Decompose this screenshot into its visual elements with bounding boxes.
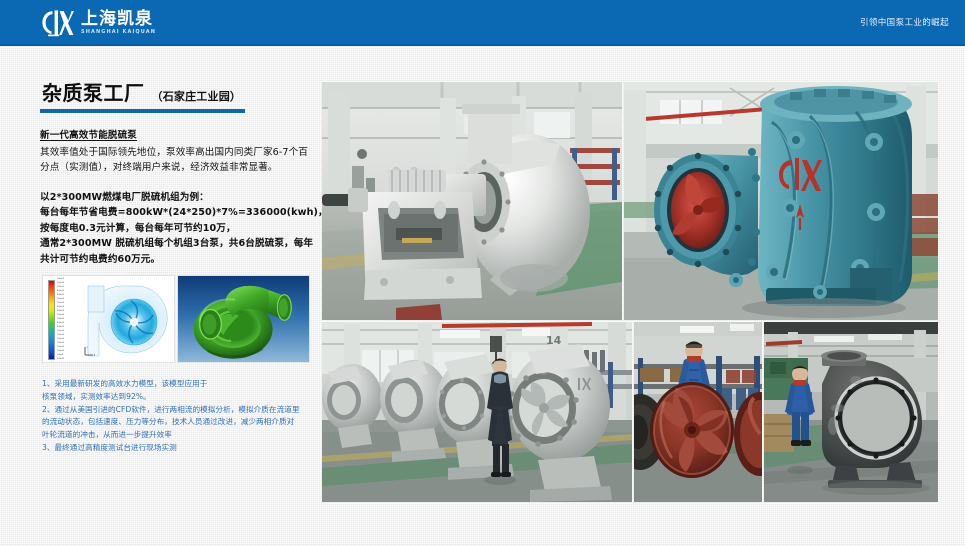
colorbar-tick: 8.50e+00 <box>57 291 79 293</box>
svg-text:Y: Y <box>86 346 88 349</box>
header-slogan: 引领中国泵工业的崛起 <box>860 0 949 44</box>
note-line: 叶轮流道的冲击，从而进一步提升效率 <box>42 429 322 442</box>
colorbar-tick: 4.50e+00 <box>57 323 79 325</box>
colorbar-tick: 7.50e+00 <box>57 299 79 301</box>
colorbar-tick: 9.00e+00 <box>57 287 79 289</box>
colorbar-tick: 9.50e+00 <box>57 283 79 285</box>
brand-name-en: SHANGHAI KAIQUAN <box>81 30 156 35</box>
volute-3d-cad-model <box>177 275 310 363</box>
cfd-velocity-contour: 1.00e+01 9.50e+00 9.00e+00 8.50e+00 8.00… <box>42 275 175 363</box>
photo-white-pump-assembly[interactable] <box>322 82 622 320</box>
example-line: 按每度电0.3元计算，每台每年可节约10万， <box>40 221 312 237</box>
bay-number-label: 14 <box>546 334 562 347</box>
colorbar-tick: 3.50e+00 <box>57 331 79 333</box>
photo-grid: 14 <box>322 82 938 502</box>
colorbar-tick: 5.50e+00 <box>57 315 79 317</box>
colorbar-tick: 0.00e+00 <box>57 359 79 361</box>
colorbar-tick: 2.50e+00 <box>57 339 79 341</box>
technical-notes-list: 1、采用最新研发的高效水力模型，该模型应用于 核泵领域，实测效率达到92%。 2… <box>42 378 322 455</box>
note-line: 2、通过从美国引进的CFD软件，进行两相流的模拟分析，模拟介质在流道里 <box>42 404 322 417</box>
title-underline-rule <box>40 109 245 113</box>
svg-text:X: X <box>94 354 96 357</box>
colorbar-tick: 7.00e+00 <box>57 303 79 305</box>
header-underline <box>0 44 965 46</box>
photo-pump-row-with-worker[interactable]: 14 <box>322 322 632 502</box>
slide-canvas: 上海凯泉 SHANGHAI KAIQUAN 引领中国泵工业的崛起 杂质泵工厂 （… <box>0 0 965 546</box>
example-line: 以2*300MW燃煤电厂脱硫机组为例： <box>40 190 312 206</box>
note-line: 核泵领域，实测效率达到92%。 <box>42 391 322 404</box>
colorbar-tick: 1.00e+01 <box>57 279 79 281</box>
example-line: 通常2*300MW 脱硫机组每个机组3台泵，共6台脱硫泵，每年 <box>40 236 312 252</box>
left-content-column: 杂质泵工厂 （石家庄工业园） 新一代高效节能脱硫泵 其效率值处于国际领先地位，泵… <box>40 82 312 502</box>
figure-row: 1.00e+01 9.50e+00 9.00e+00 8.50e+00 8.00… <box>42 275 310 363</box>
example-line: 共计可节约电费约60万元。 <box>40 252 312 268</box>
photo-blue-desulfurization-pump[interactable] <box>624 82 938 320</box>
colorbar-tick: 2.00e+00 <box>57 343 79 345</box>
note-line: 3、最终通过高精度测试台进行现场实测 <box>42 442 322 455</box>
page-subtitle: （石家庄工业园） <box>152 88 242 104</box>
cfd-colorbar-ticks: 1.00e+01 9.50e+00 9.00e+00 8.50e+00 8.00… <box>57 279 79 361</box>
colorbar-tick: 4.00e+00 <box>57 327 79 329</box>
section-paragraph: 其效率值处于国际领先地位，泵效率高出国内同类厂家6-7个百分点（实测值），对终端… <box>40 146 312 176</box>
section-heading: 新一代高效节能脱硫泵 <box>40 127 312 141</box>
savings-example-block: 以2*300MW燃煤电厂脱硫机组为例： 每台每年节省电费=800kW*(24*2… <box>40 190 312 268</box>
page-title: 杂质泵工厂 <box>42 82 145 104</box>
colorbar-tick: 3.00e+00 <box>57 335 79 337</box>
colorbar-tick: 5.00e-01 <box>57 355 79 357</box>
photo-large-casing-with-worker[interactable] <box>764 322 938 502</box>
note-line: 1、采用最新研发的高效水力模型，该模型应用于 <box>42 378 322 391</box>
colorbar-tick: 1.00e+00 <box>57 351 79 353</box>
brand-logo[interactable]: 上海凯泉 SHANGHAI KAIQUAN <box>40 7 156 39</box>
example-line: 每台每年节省电费=800kW*(24*250)*7%=336000(kwh)， <box>40 205 312 221</box>
colorbar-tick: 8.00e+00 <box>57 295 79 297</box>
colorbar-tick: 5.00e+00 <box>57 319 79 321</box>
colorbar-tick: 6.50e+00 <box>57 307 79 309</box>
header-bar: 上海凯泉 SHANGHAI KAIQUAN 引领中国泵工业的崛起 <box>0 0 965 44</box>
kaiquan-qx-monogram-icon <box>40 8 74 38</box>
colorbar-tick: 1.50e+00 <box>57 347 79 349</box>
page-title-row: 杂质泵工厂 （石家庄工业园） <box>40 82 312 104</box>
note-line: 的流动状态，包括速度、压力等分布，技术人员通过改进，减少两相介质对 <box>42 416 322 429</box>
photo-red-impellers[interactable] <box>634 322 762 502</box>
cfd-colorbar <box>48 280 55 360</box>
axis-triad-icon: Y X <box>83 345 97 357</box>
brand-name-cn: 上海凯泉 <box>81 11 156 28</box>
brand-logo-text: 上海凯泉 SHANGHAI KAIQUAN <box>81 11 156 35</box>
colorbar-tick: 6.00e+00 <box>57 311 79 313</box>
